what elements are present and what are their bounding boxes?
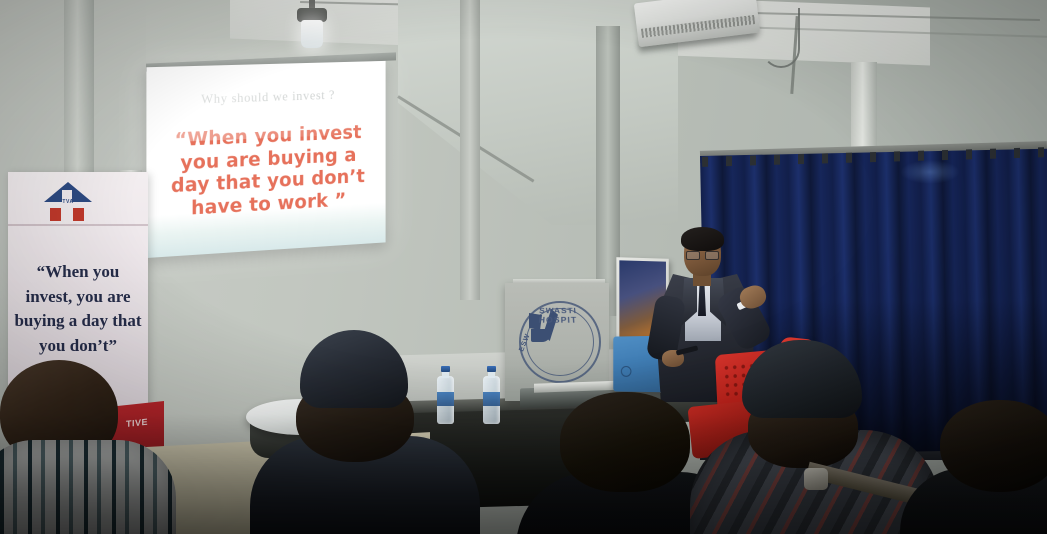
house-window-right-icon <box>73 208 84 221</box>
banner-quote: “When you invest, you are buying a day t… <box>12 260 144 359</box>
projected-slide: Why should we invest ? “When you invest … <box>146 61 385 258</box>
water-bottle <box>437 366 454 424</box>
attendee-head <box>560 392 690 492</box>
bottle-label <box>437 392 454 406</box>
projection-screen: Why should we invest ? “When you invest … <box>146 61 385 258</box>
banner-logo-label: TVA <box>40 199 96 205</box>
slide-title: Why should we invest ? <box>146 86 385 109</box>
ac-vent <box>641 15 755 38</box>
bottle-label <box>483 392 500 406</box>
house-window-left-icon <box>50 208 61 221</box>
banner-logo-icon: TVA <box>40 180 96 224</box>
banner-base-label: TIVE <box>110 415 164 431</box>
bottle-cap <box>441 366 450 372</box>
attendee-head <box>940 400 1047 492</box>
eyeglasses-icon <box>686 251 719 258</box>
banner-divider <box>8 224 148 226</box>
slide-quote: “When you invest you are buying a day th… <box>161 122 374 223</box>
bottle-cap <box>487 366 496 372</box>
pendant-light-icon <box>301 20 323 48</box>
hospital-name-left: ESW <box>514 321 537 364</box>
speaker-hair <box>681 227 724 251</box>
water-bottle <box>483 366 500 424</box>
laptop-logo-icon <box>621 366 632 377</box>
curtain-highlight <box>900 160 960 184</box>
bag-buckle <box>804 468 828 490</box>
attendee-plaid-shade <box>0 440 176 534</box>
column-center <box>460 0 480 300</box>
presentation-photo-scene: Why should we invest ? “When you invest … <box>0 0 1047 534</box>
